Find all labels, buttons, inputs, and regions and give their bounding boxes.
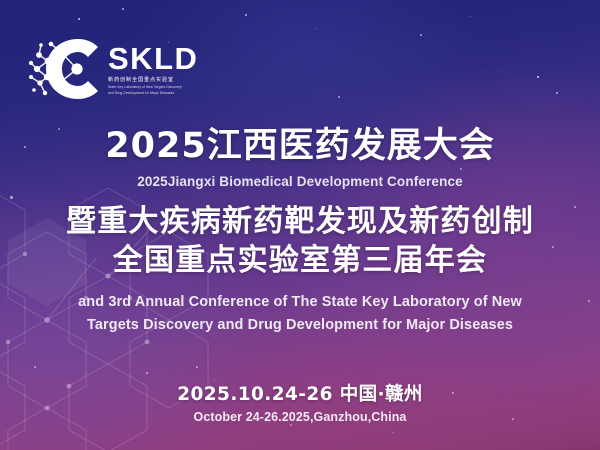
date-location-cn: 2025.10.24-26 中国·赣州 [0, 380, 600, 406]
poster-footer-block: 2025.10.24-26 中国·赣州 October 24-26.2025,G… [0, 380, 600, 424]
conference-subtitle-cn-line1: 暨重大疾病新药靶发现及新药创制 [0, 202, 600, 242]
skld-cn-tagline: 新药创制全国重点实验室 [108, 77, 198, 83]
skld-wordmark: SKLD [108, 43, 198, 74]
conference-subtitle-cn-line2: 全国重点实验室第三届年会 [0, 241, 600, 281]
skld-molecular-c-icon [28, 33, 102, 105]
skld-logo: SKLD 新药创制全国重点实验室 State Key Laboratory of… [28, 33, 198, 105]
conference-poster: SKLD 新药创制全国重点实验室 State Key Laboratory of… [0, 0, 600, 450]
skld-logo-text: SKLD 新药创制全国重点实验室 State Key Laboratory of… [108, 43, 198, 95]
skld-en-tagline-line2: and Drug Development for Major Diseases [108, 91, 198, 95]
conference-subtitle-en-line2: Targets Discovery and Drug Development f… [0, 314, 600, 336]
poster-headline-block: 2025江西医药发展大会 2025Jiangxi Biomedical Deve… [0, 126, 600, 336]
skld-en-tagline-line1: State Key Laboratory of New Targets Disc… [108, 85, 198, 89]
conference-title-en: 2025Jiangxi Biomedical Development Confe… [0, 174, 600, 189]
date-location-en: October 24-26.2025,Ganzhou,China [0, 410, 600, 424]
conference-title-cn: 2025江西医药发展大会 [0, 126, 600, 167]
conference-subtitle-en-line1: and 3rd Annual Conference of The State K… [0, 291, 600, 313]
